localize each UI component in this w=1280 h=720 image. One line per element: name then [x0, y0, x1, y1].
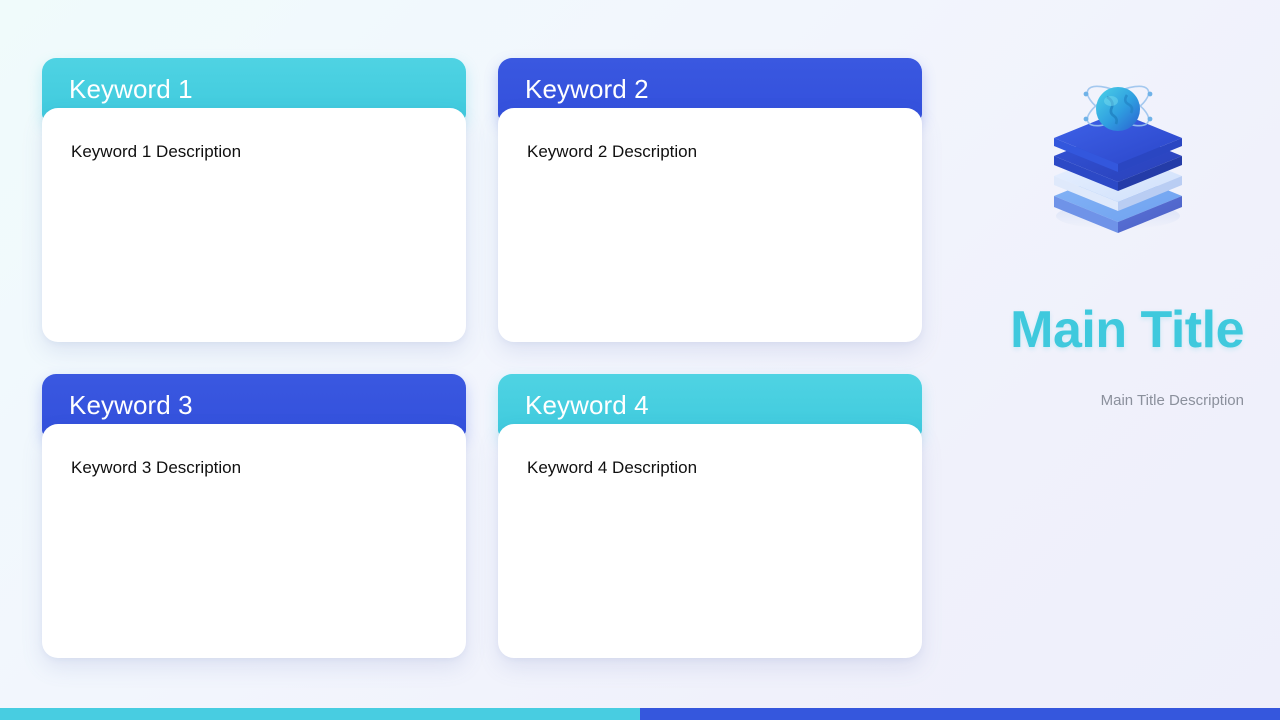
- slide-canvas: Keyword 1 Keyword 1 Description Keyword …: [0, 0, 1280, 720]
- keyword-card-2[interactable]: Keyword 2 Keyword 2 Description: [498, 58, 922, 342]
- keyword-card-3-title: Keyword 3: [69, 392, 193, 418]
- keyword-card-1-description: Keyword 1 Description: [71, 140, 438, 165]
- main-subtitle: Main Title Description: [950, 391, 1244, 411]
- keyword-card-4-description: Keyword 4 Description: [527, 456, 894, 481]
- bottom-accent-bar: [0, 708, 1280, 720]
- keyword-card-2-body: Keyword 2 Description: [498, 108, 922, 342]
- keyword-card-1[interactable]: Keyword 1 Keyword 1 Description: [42, 58, 466, 342]
- keyword-card-3-body: Keyword 3 Description: [42, 424, 466, 658]
- right-panel: Main Title Main Title Description: [950, 0, 1280, 720]
- bottom-bar-right-segment: [640, 708, 1280, 720]
- keyword-card-3[interactable]: Keyword 3 Keyword 3 Description: [42, 374, 466, 658]
- keyword-card-1-title: Keyword 1: [69, 76, 193, 102]
- keyword-card-4[interactable]: Keyword 4 Keyword 4 Description: [498, 374, 922, 658]
- keyword-card-2-description: Keyword 2 Description: [527, 140, 894, 165]
- keyword-card-3-description: Keyword 3 Description: [71, 456, 438, 481]
- keyword-card-2-title: Keyword 2: [525, 76, 649, 102]
- bottom-bar-left-segment: [0, 708, 640, 720]
- keyword-card-1-body: Keyword 1 Description: [42, 108, 466, 342]
- layered-stack-globe-atom-icon: [1032, 78, 1202, 238]
- keyword-card-4-body: Keyword 4 Description: [498, 424, 922, 658]
- main-title: Main Title: [950, 302, 1244, 359]
- keyword-cards-grid: Keyword 1 Keyword 1 Description Keyword …: [42, 58, 922, 660]
- keyword-card-4-title: Keyword 4: [525, 392, 649, 418]
